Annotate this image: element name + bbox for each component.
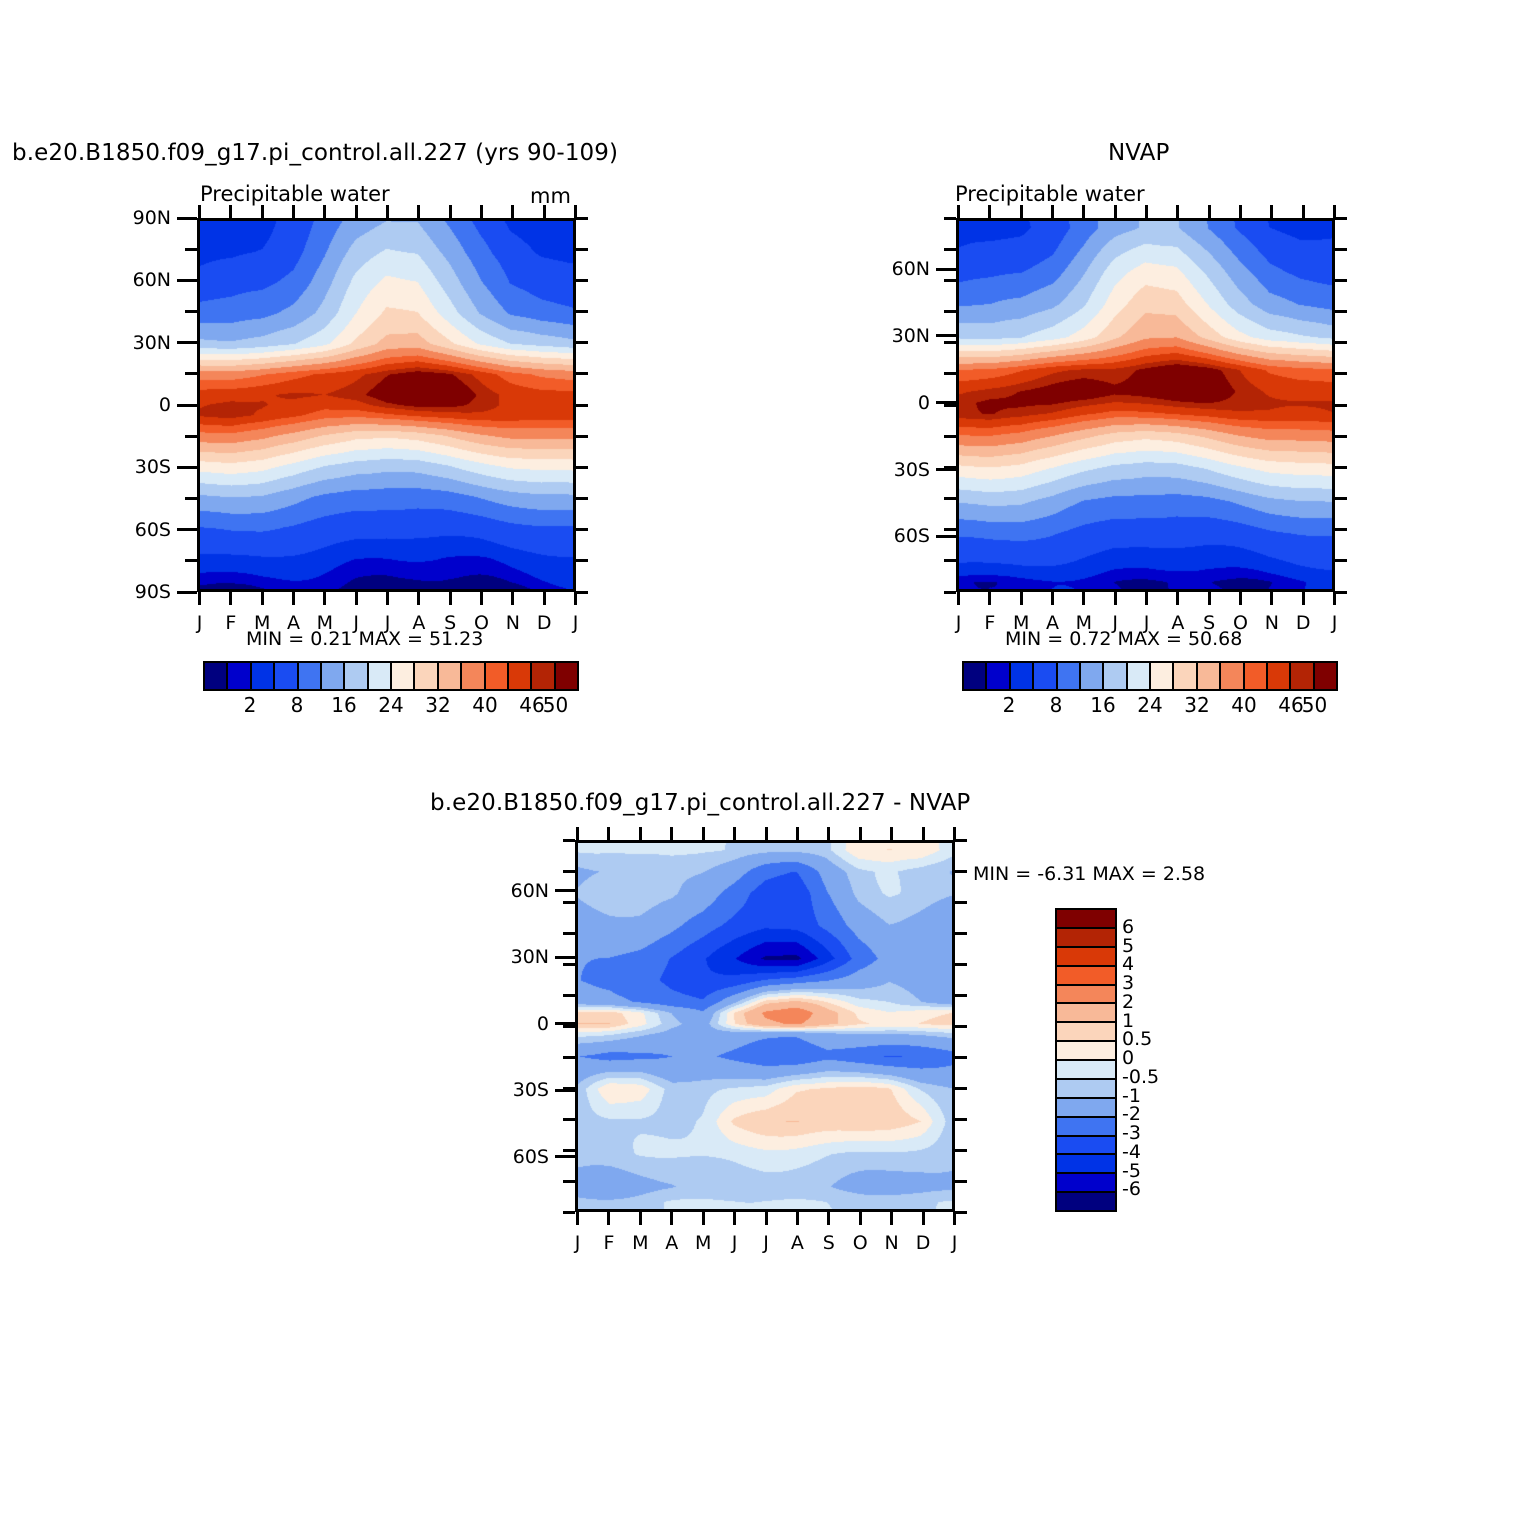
axis-tick bbox=[1333, 592, 1336, 605]
colorbar-cell[interactable] bbox=[275, 663, 298, 689]
axis-tick bbox=[417, 205, 420, 218]
colorbar-cell[interactable] bbox=[439, 663, 462, 689]
axis-tick bbox=[936, 468, 956, 471]
axis-tick bbox=[859, 827, 862, 840]
axis-tick bbox=[563, 870, 575, 873]
x-axis-month-label: D bbox=[537, 612, 552, 634]
x-axis-month-label: J bbox=[197, 612, 203, 634]
colorbar-cell[interactable] bbox=[1057, 1080, 1115, 1099]
colorbar-cell[interactable] bbox=[1291, 663, 1314, 689]
axis-tick bbox=[198, 592, 201, 605]
x-axis-month-label: O bbox=[853, 1232, 868, 1254]
axis-tick bbox=[576, 559, 588, 562]
axis-tick bbox=[563, 994, 575, 997]
colorbar-tick-label: 16 bbox=[1090, 693, 1115, 717]
axis-tick bbox=[449, 592, 452, 605]
axis-tick bbox=[292, 205, 295, 218]
colorbar-tick-label: 8 bbox=[1050, 693, 1063, 717]
obs-panel-title: NVAP bbox=[1108, 140, 1169, 166]
x-axis-month-label: M bbox=[695, 1232, 711, 1254]
colorbar-cell[interactable] bbox=[205, 663, 228, 689]
x-axis-month-label: S bbox=[823, 1232, 835, 1254]
axis-tick bbox=[576, 435, 588, 438]
axis-tick bbox=[555, 1022, 575, 1025]
axis-tick bbox=[944, 310, 956, 313]
colorbar-cell[interactable] bbox=[1315, 663, 1336, 689]
colorbar-cell[interactable] bbox=[1057, 948, 1115, 967]
axis-tick bbox=[555, 956, 575, 959]
colorbar-cell[interactable] bbox=[987, 663, 1010, 689]
x-axis-month-label: A bbox=[665, 1232, 678, 1254]
colorbar-tick-label: 40 bbox=[1231, 693, 1256, 717]
axis-tick bbox=[574, 592, 577, 605]
colorbar-cell[interactable] bbox=[1057, 1099, 1115, 1118]
axis-tick bbox=[607, 827, 610, 840]
axis-tick bbox=[563, 839, 575, 842]
diff-panel-title: b.e20.B1850.f09_g17.pi_control.all.227 -… bbox=[430, 790, 970, 816]
y-axis-latitude-label: 30N bbox=[111, 332, 171, 354]
axis-tick bbox=[944, 591, 956, 594]
colorbar-cell[interactable] bbox=[509, 663, 532, 689]
axis-tick bbox=[177, 591, 197, 594]
x-axis-month-label: J bbox=[952, 1232, 958, 1254]
axis-tick bbox=[563, 901, 575, 904]
colorbar-tick-label: 24 bbox=[1137, 693, 1162, 717]
model-colorbar[interactable] bbox=[203, 661, 579, 691]
y-axis-latitude-label: 60S bbox=[111, 519, 171, 541]
colorbar-cell[interactable] bbox=[1057, 1061, 1115, 1080]
axis-tick bbox=[576, 591, 588, 594]
x-axis-month-label: N bbox=[885, 1232, 899, 1254]
x-axis-month-label: F bbox=[984, 612, 995, 634]
axis-tick bbox=[1082, 592, 1085, 605]
axis-tick bbox=[543, 205, 546, 218]
axis-tick bbox=[177, 404, 197, 407]
x-axis-month-label: N bbox=[1265, 612, 1279, 634]
axis-tick bbox=[576, 372, 588, 375]
axis-tick bbox=[576, 827, 579, 840]
axis-tick bbox=[576, 466, 588, 469]
colorbar-cell[interactable] bbox=[1057, 1137, 1115, 1156]
axis-tick bbox=[1270, 205, 1273, 218]
colorbar-cell[interactable] bbox=[1057, 1174, 1115, 1193]
y-axis-latitude-label: 60N bbox=[870, 258, 930, 280]
axis-tick bbox=[670, 1212, 673, 1225]
colorbar-cell[interactable] bbox=[964, 663, 987, 689]
axis-tick bbox=[576, 341, 588, 344]
axis-tick bbox=[576, 1212, 579, 1225]
y-axis-latitude-label: 0 bbox=[870, 392, 930, 414]
diff-colorbar[interactable] bbox=[1055, 908, 1117, 1212]
axis-tick bbox=[511, 592, 514, 605]
axis-tick bbox=[955, 1211, 967, 1214]
axis-tick bbox=[563, 1211, 575, 1214]
axis-tick bbox=[543, 592, 546, 605]
axis-tick bbox=[563, 1180, 575, 1183]
axis-tick bbox=[576, 248, 588, 251]
axis-tick bbox=[563, 932, 575, 935]
colorbar-cell[interactable] bbox=[345, 663, 368, 689]
axis-tick bbox=[827, 1212, 830, 1225]
colorbar-tick-label: 50 bbox=[543, 693, 568, 717]
axis-tick bbox=[944, 279, 956, 282]
colorbar-cell[interactable] bbox=[299, 663, 322, 689]
colorbar-cell[interactable] bbox=[462, 663, 485, 689]
colorbar-cell[interactable] bbox=[1268, 663, 1291, 689]
axis-tick bbox=[936, 535, 956, 538]
colorbar-tick-label: 24 bbox=[378, 693, 403, 717]
axis-tick bbox=[944, 372, 956, 375]
y-axis-latitude-label: 30S bbox=[111, 456, 171, 478]
axis-tick bbox=[955, 839, 967, 842]
axis-tick bbox=[576, 528, 588, 531]
axis-tick bbox=[1335, 248, 1347, 251]
x-axis-month-label: J bbox=[1332, 612, 1338, 634]
axis-tick bbox=[955, 870, 967, 873]
axis-tick bbox=[1114, 205, 1117, 218]
diff-minmax: MIN = -6.31 MAX = 2.58 bbox=[973, 863, 1205, 885]
axis-tick bbox=[563, 1056, 575, 1059]
colorbar-tick-label: 32 bbox=[425, 693, 450, 717]
y-axis-latitude-label: 30S bbox=[870, 459, 930, 481]
axis-tick bbox=[944, 497, 956, 500]
axis-tick bbox=[1335, 466, 1347, 469]
axis-tick bbox=[796, 827, 799, 840]
colorbar-cell[interactable] bbox=[369, 663, 392, 689]
axis-tick bbox=[261, 205, 264, 218]
axis-tick bbox=[1051, 592, 1054, 605]
axis-tick bbox=[765, 827, 768, 840]
colorbar-tick-label: 46 bbox=[1278, 693, 1303, 717]
colorbar-tick-label: 2 bbox=[1003, 693, 1016, 717]
y-axis-latitude-label: 90S bbox=[111, 581, 171, 603]
axis-tick bbox=[386, 592, 389, 605]
axis-tick bbox=[386, 205, 389, 218]
axis-tick bbox=[563, 1149, 575, 1152]
axis-tick bbox=[229, 592, 232, 605]
colorbar-cell[interactable] bbox=[1081, 663, 1104, 689]
axis-tick bbox=[292, 592, 295, 605]
axis-tick bbox=[890, 827, 893, 840]
axis-tick bbox=[1302, 205, 1305, 218]
y-axis-latitude-label: 30N bbox=[870, 325, 930, 347]
axis-tick bbox=[936, 268, 956, 271]
axis-tick bbox=[957, 205, 960, 218]
axis-tick bbox=[576, 217, 588, 220]
axis-tick bbox=[944, 248, 956, 251]
colorbar-cell[interactable] bbox=[1245, 663, 1268, 689]
axis-tick bbox=[955, 901, 967, 904]
axis-tick bbox=[323, 205, 326, 218]
colorbar-cell[interactable] bbox=[392, 663, 415, 689]
axis-tick bbox=[177, 279, 197, 282]
axis-tick bbox=[1335, 372, 1347, 375]
x-axis-month-label: J bbox=[763, 1232, 769, 1254]
colorbar-cell[interactable] bbox=[1057, 1042, 1115, 1061]
axis-tick bbox=[1335, 404, 1347, 407]
colorbar-tick-label: 46 bbox=[519, 693, 544, 717]
axis-tick bbox=[449, 205, 452, 218]
axis-tick bbox=[576, 279, 588, 282]
axis-tick bbox=[576, 310, 588, 313]
y-axis-latitude-label: 60S bbox=[870, 525, 930, 547]
axis-tick bbox=[185, 372, 197, 375]
colorbar-tick-label: 2 bbox=[244, 693, 257, 717]
colorbar-cell[interactable] bbox=[1057, 1004, 1115, 1023]
axis-tick bbox=[185, 248, 197, 251]
y-axis-latitude-label: 30S bbox=[489, 1079, 549, 1101]
colorbar-cell[interactable] bbox=[1057, 1118, 1115, 1137]
axis-tick bbox=[765, 1212, 768, 1225]
axis-tick bbox=[1335, 279, 1347, 282]
axis-tick bbox=[1176, 592, 1179, 605]
colorbar-cell[interactable] bbox=[486, 663, 509, 689]
axis-tick bbox=[955, 963, 967, 966]
colorbar-cell[interactable] bbox=[1151, 663, 1174, 689]
axis-tick bbox=[177, 217, 197, 220]
y-axis-latitude-label: 0 bbox=[111, 394, 171, 416]
axis-tick bbox=[563, 963, 575, 966]
axis-tick bbox=[733, 827, 736, 840]
colorbar-tick-label: -6 bbox=[1122, 1178, 1141, 1200]
colorbar-cell[interactable] bbox=[556, 663, 577, 689]
colorbar-tick-label: 8 bbox=[291, 693, 304, 717]
axis-tick bbox=[555, 1089, 575, 1092]
axis-tick bbox=[922, 1212, 925, 1225]
axis-tick bbox=[955, 994, 967, 997]
axis-tick bbox=[1145, 592, 1148, 605]
x-axis-month-label: F bbox=[603, 1232, 614, 1254]
axis-tick bbox=[1335, 591, 1347, 594]
axis-tick bbox=[1208, 205, 1211, 218]
axis-tick bbox=[480, 205, 483, 218]
colorbar-tick-label: 16 bbox=[331, 693, 356, 717]
x-axis-month-label: J bbox=[575, 1232, 581, 1254]
axis-tick bbox=[944, 559, 956, 562]
axis-tick bbox=[890, 1212, 893, 1225]
axis-tick bbox=[955, 1087, 967, 1090]
obs-panel-subtitle: Precipitable water bbox=[955, 182, 1145, 206]
colorbar-cell[interactable] bbox=[1128, 663, 1151, 689]
axis-tick bbox=[355, 205, 358, 218]
colorbar-cell[interactable] bbox=[1011, 663, 1034, 689]
y-axis-latitude-label: 30N bbox=[489, 946, 549, 968]
colorbar-cell[interactable] bbox=[1057, 967, 1115, 986]
colorbar-cell[interactable] bbox=[322, 663, 345, 689]
axis-tick bbox=[229, 205, 232, 218]
x-axis-month-label: J bbox=[956, 612, 962, 634]
axis-tick bbox=[198, 205, 201, 218]
axis-tick bbox=[1239, 592, 1242, 605]
axis-tick bbox=[607, 1212, 610, 1225]
axis-tick bbox=[1051, 205, 1054, 218]
colorbar-cell[interactable] bbox=[1174, 663, 1197, 689]
colorbar-cell[interactable] bbox=[1198, 663, 1221, 689]
y-axis-latitude-label: 60N bbox=[489, 880, 549, 902]
colorbar-cell[interactable] bbox=[228, 663, 251, 689]
colorbar-tick-label: 40 bbox=[472, 693, 497, 717]
obs-minmax: MIN = 0.72 MAX = 50.68 bbox=[1005, 628, 1242, 650]
axis-tick bbox=[955, 932, 967, 935]
colorbar-cell[interactable] bbox=[1221, 663, 1244, 689]
axis-tick bbox=[733, 1212, 736, 1225]
colorbar-cell[interactable] bbox=[1057, 1193, 1115, 1210]
diff-contour-panel[interactable] bbox=[575, 840, 955, 1212]
axis-tick bbox=[555, 889, 575, 892]
colorbar-cell[interactable] bbox=[252, 663, 275, 689]
axis-tick bbox=[988, 205, 991, 218]
colorbar-cell[interactable] bbox=[1104, 663, 1127, 689]
axis-tick bbox=[185, 559, 197, 562]
axis-tick bbox=[955, 1056, 967, 1059]
axis-tick bbox=[1335, 217, 1347, 220]
axis-tick bbox=[639, 1212, 642, 1225]
axis-tick bbox=[563, 1118, 575, 1121]
axis-tick bbox=[185, 435, 197, 438]
axis-tick bbox=[323, 592, 326, 605]
axis-tick bbox=[177, 466, 197, 469]
model-contour-panel[interactable] bbox=[197, 218, 576, 592]
axis-tick bbox=[576, 404, 588, 407]
x-axis-month-label: J bbox=[732, 1232, 738, 1254]
axis-tick bbox=[827, 827, 830, 840]
axis-tick bbox=[1335, 528, 1347, 531]
axis-tick bbox=[796, 1212, 799, 1225]
axis-tick bbox=[1335, 341, 1347, 344]
colorbar-cell[interactable] bbox=[1057, 910, 1115, 929]
axis-tick bbox=[1145, 205, 1148, 218]
axis-tick bbox=[185, 310, 197, 313]
colorbar-cell[interactable] bbox=[1058, 663, 1081, 689]
axis-tick bbox=[944, 217, 956, 220]
x-axis-month-label: J bbox=[573, 612, 579, 634]
axis-tick bbox=[185, 497, 197, 500]
axis-tick bbox=[1176, 205, 1179, 218]
colorbar-cell[interactable] bbox=[532, 663, 555, 689]
axis-tick bbox=[955, 1149, 967, 1152]
axis-tick bbox=[1335, 310, 1347, 313]
axis-tick bbox=[922, 827, 925, 840]
model-minmax: MIN = 0.21 MAX = 51.23 bbox=[246, 628, 483, 650]
axis-tick bbox=[1114, 592, 1117, 605]
axis-tick bbox=[1335, 559, 1347, 562]
colorbar-tick-label: 32 bbox=[1184, 693, 1209, 717]
model-panel-subtitle: Precipitable water bbox=[200, 182, 390, 206]
x-axis-month-label: A bbox=[791, 1232, 804, 1254]
axis-tick bbox=[576, 497, 588, 500]
axis-tick bbox=[480, 592, 483, 605]
colorbar-cell[interactable] bbox=[1057, 1023, 1115, 1042]
colorbar-tick-label: 50 bbox=[1302, 693, 1327, 717]
axis-tick bbox=[1082, 205, 1085, 218]
x-axis-month-label: M bbox=[632, 1232, 648, 1254]
model-units-label: mm bbox=[530, 184, 571, 208]
axis-tick bbox=[1020, 205, 1023, 218]
axis-tick bbox=[1335, 497, 1347, 500]
axis-tick bbox=[511, 205, 514, 218]
axis-tick bbox=[417, 592, 420, 605]
axis-tick bbox=[988, 592, 991, 605]
axis-tick bbox=[953, 1212, 956, 1225]
colorbar-cell[interactable] bbox=[415, 663, 438, 689]
axis-tick bbox=[702, 1212, 705, 1225]
y-axis-latitude-label: 60S bbox=[489, 1146, 549, 1168]
axis-tick bbox=[957, 592, 960, 605]
axis-tick bbox=[261, 592, 264, 605]
axis-tick bbox=[555, 1155, 575, 1158]
axis-tick bbox=[177, 528, 197, 531]
axis-tick bbox=[355, 592, 358, 605]
axis-tick bbox=[1302, 592, 1305, 605]
model-panel-title: b.e20.B1850.f09_g17.pi_control.all.227 (… bbox=[12, 140, 618, 166]
axis-tick bbox=[936, 401, 956, 404]
axis-tick bbox=[670, 827, 673, 840]
y-axis-latitude-label: 90N bbox=[111, 207, 171, 229]
axis-tick bbox=[1020, 592, 1023, 605]
x-axis-month-label: F bbox=[225, 612, 236, 634]
axis-tick bbox=[702, 827, 705, 840]
axis-tick bbox=[955, 1025, 967, 1028]
axis-tick bbox=[1335, 435, 1347, 438]
axis-tick bbox=[955, 1118, 967, 1121]
axis-tick bbox=[177, 341, 197, 344]
y-axis-latitude-label: 60N bbox=[111, 269, 171, 291]
x-axis-month-label: N bbox=[506, 612, 520, 634]
colorbar-cell[interactable] bbox=[1057, 986, 1115, 1005]
axis-tick bbox=[944, 528, 956, 531]
axis-tick bbox=[1208, 592, 1211, 605]
axis-tick bbox=[1239, 205, 1242, 218]
colorbar-cell[interactable] bbox=[1057, 929, 1115, 948]
x-axis-month-label: D bbox=[916, 1232, 931, 1254]
obs-colorbar[interactable] bbox=[962, 661, 1338, 691]
y-axis-latitude-label: 0 bbox=[489, 1013, 549, 1035]
colorbar-cell[interactable] bbox=[1057, 1155, 1115, 1174]
axis-tick bbox=[955, 1180, 967, 1183]
axis-tick bbox=[936, 334, 956, 337]
axis-tick bbox=[944, 435, 956, 438]
colorbar-cell[interactable] bbox=[1034, 663, 1057, 689]
axis-tick bbox=[944, 341, 956, 344]
axis-tick bbox=[859, 1212, 862, 1225]
x-axis-month-label: D bbox=[1296, 612, 1311, 634]
axis-tick bbox=[639, 827, 642, 840]
obs-contour-panel[interactable] bbox=[956, 218, 1335, 592]
axis-tick bbox=[1270, 592, 1273, 605]
